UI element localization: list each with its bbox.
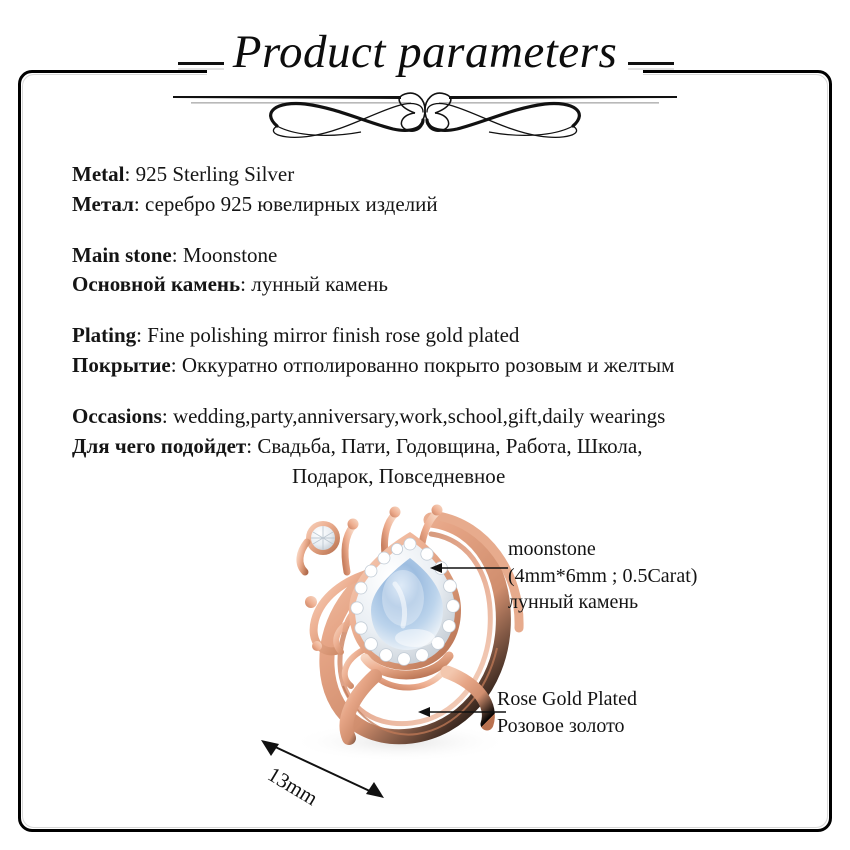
spec-line-main-stone-ru: Основной камень: лунный камень	[72, 270, 802, 300]
product-parameters-page: Product parameters	[0, 0, 850, 850]
rose-gold-callout-line2: Розовое золото	[497, 713, 637, 740]
page-title: Product parameters	[207, 28, 644, 77]
moonstone-callout-line3: лунный камень	[508, 589, 697, 616]
rose-gold-callout: Rose Gold Plated Розовое золото	[497, 686, 637, 739]
specifications-list: Metal: 925 Sterling Silver Метал: серебр…	[72, 160, 802, 512]
spec-label-metal-ru: Метал	[72, 192, 134, 216]
spec-label-occasions-en: Occasions	[72, 404, 162, 428]
spec-line-plating-ru: Покрытие: Оккуратно отполированно покрыт…	[72, 351, 802, 381]
spec-label-main-stone-en: Main stone	[72, 243, 172, 267]
title-dash-right	[628, 62, 674, 70]
spec-value-occasions-ru: Свадьба, Пати, Годовщина, Работа, Школа,	[257, 434, 642, 458]
moonstone-leader-line	[430, 556, 510, 580]
spec-line-occasions-ru-cont: Подарок, Повседневное	[72, 462, 802, 492]
spec-label-plating-en: Plating	[72, 323, 136, 347]
spec-value-main-stone-en: Moonstone	[183, 243, 278, 267]
spec-value-metal-ru: серебро 925 ювелирных изделий	[145, 192, 438, 216]
spec-value-plating-en: Fine polishing mirror finish rose gold p…	[147, 323, 519, 347]
spec-label-occasions-ru: Для чего подойдет	[72, 434, 246, 458]
spec-group-occasions: Occasions: wedding,party,anniversary,wor…	[72, 402, 802, 491]
spec-label-main-stone-ru: Основной камень	[72, 272, 240, 296]
spec-value-metal-en: 925 Sterling Silver	[136, 162, 295, 186]
spec-line-plating-en: Plating: Fine polishing mirror finish ro…	[72, 321, 802, 351]
spec-group-metal: Metal: 925 Sterling Silver Метал: серебр…	[72, 160, 802, 220]
spec-value-plating-ru: Оккуратно отполированно покрыто розовым …	[182, 353, 675, 377]
spec-value-occasions-en: wedding,party,anniversary,work,school,gi…	[173, 404, 665, 428]
rose-gold-leader-line	[418, 700, 508, 724]
title-dash-left	[178, 62, 224, 70]
moonstone-callout-line1: moonstone	[508, 536, 697, 563]
spec-label-plating-ru: Покрытие	[72, 353, 171, 377]
spec-line-occasions-en: Occasions: wedding,party,anniversary,wor…	[72, 402, 802, 432]
spec-line-occasions-ru: Для чего подойдет: Свадьба, Пати, Годовщ…	[72, 432, 802, 462]
rose-gold-callout-line1: Rose Gold Plated	[497, 686, 637, 713]
moonstone-callout-line2: (4mm*6mm ; 0.5Carat)	[508, 563, 697, 590]
spec-line-metal-en: Metal: 925 Sterling Silver	[72, 160, 802, 190]
spec-group-main-stone: Main stone: Moonstone Основной камень: л…	[72, 241, 802, 301]
spec-label-metal-en: Metal	[72, 162, 124, 186]
moonstone-callout: moonstone (4mm*6mm ; 0.5Carat) лунный ка…	[508, 536, 697, 616]
spec-line-main-stone-en: Main stone: Moonstone	[72, 241, 802, 271]
spec-group-plating: Plating: Fine polishing mirror finish ro…	[72, 321, 802, 381]
page-title-container: Product parameters	[0, 28, 850, 77]
title-ornament-flourish	[165, 82, 685, 142]
spec-value-main-stone-ru: лунный камень	[251, 272, 388, 296]
spec-line-metal-ru: Метал: серебро 925 ювелирных изделий	[72, 190, 802, 220]
